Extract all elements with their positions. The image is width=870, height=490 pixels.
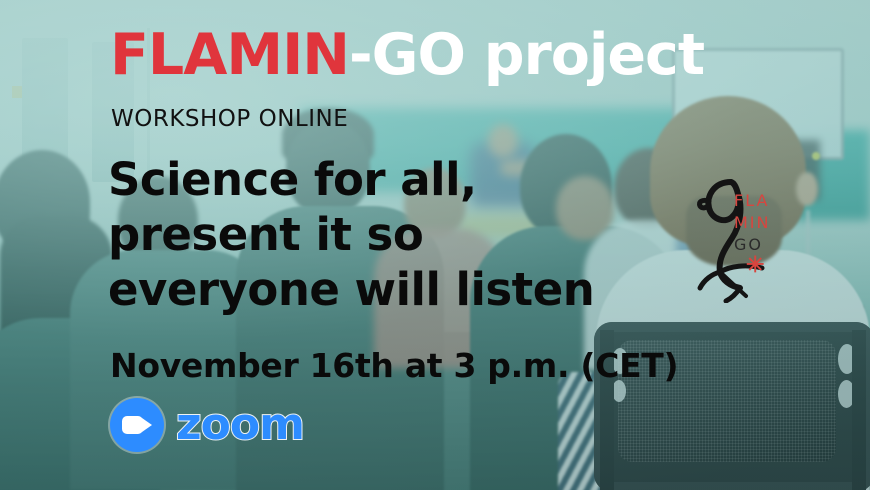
logo-word-min: MIN	[734, 212, 771, 234]
headline-line-1: Science for all,	[108, 152, 594, 207]
project-title: FLAMIN-GO project	[110, 27, 704, 84]
headline-line-2: present it so	[108, 207, 594, 262]
zoom-wordmark: zoom	[176, 403, 304, 447]
flamingo-logo: FLA MIN GO ✳	[690, 168, 820, 303]
workshop-announcement-banner: FLAMIN-GO project WORKSHOP ONLINE Scienc…	[0, 0, 870, 490]
project-title-brand: FLAMIN	[110, 22, 349, 88]
zoom-platform-lockup: zoom	[110, 398, 304, 452]
project-title-suffix: -GO	[349, 22, 465, 88]
headline: Science for all, present it so everyone …	[108, 152, 594, 317]
event-datetime: November 16th at 3 p.m. (CET)	[110, 346, 678, 385]
event-type-label: WORKSHOP ONLINE	[111, 106, 348, 132]
logo-word-fla: FLA	[734, 190, 771, 212]
headline-line-3: everyone will listen	[108, 262, 594, 317]
banner-content: FLAMIN-GO project WORKSHOP ONLINE Scienc…	[0, 0, 870, 490]
logo-star-icon: ✳	[746, 254, 764, 276]
zoom-video-camera-icon	[110, 398, 164, 452]
flamingo-logo-words: FLA MIN GO	[734, 190, 771, 256]
project-title-word: project	[465, 22, 704, 88]
